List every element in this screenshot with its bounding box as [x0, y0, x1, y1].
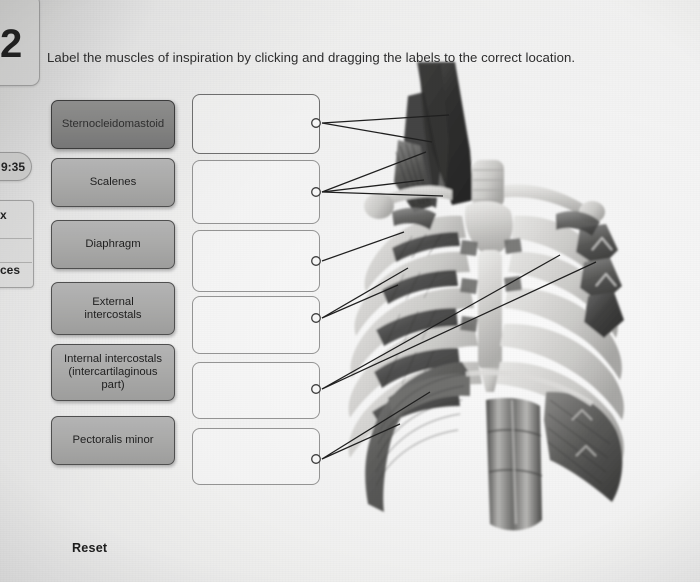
drop-slot-4[interactable]: [192, 362, 320, 419]
quiz-timer-label: 9:35: [1, 160, 25, 174]
side-menu-item-top[interactable]: x: [0, 208, 7, 222]
label-chip-text: Sternocleidomastoid: [62, 118, 164, 131]
exam-question-screenshot: 2 9:35 x ces Label the muscles of inspir…: [0, 0, 700, 582]
question-prompt: Label the muscles of inspiration by clic…: [47, 50, 575, 65]
tab-number-glyph: 2: [0, 22, 21, 67]
label-chip-text: External intercostals: [84, 296, 141, 322]
drop-slot-2[interactable]: [192, 230, 320, 292]
label-chip-4[interactable]: Internal intercostals (intercartilaginou…: [51, 344, 175, 401]
quiz-timer-pill: 9:35: [0, 152, 32, 181]
drop-slot-1[interactable]: [192, 160, 320, 224]
drop-slot-5[interactable]: [192, 428, 320, 485]
label-chip-2[interactable]: Diaphragm: [51, 220, 175, 269]
label-chip-1[interactable]: Scalenes: [51, 158, 175, 207]
label-chip-text: Internal intercostals (intercartilaginou…: [57, 353, 169, 392]
label-chip-text: Scalenes: [90, 176, 136, 189]
side-menu-item-bottom[interactable]: ces: [0, 263, 20, 277]
drop-slot-0[interactable]: [192, 94, 320, 154]
reset-button[interactable]: Reset: [72, 541, 107, 555]
label-chip-0[interactable]: Sternocleidomastoid: [51, 100, 175, 149]
drop-slot-3[interactable]: [192, 296, 320, 354]
label-chip-5[interactable]: Pectoralis minor: [51, 416, 175, 465]
side-menu-divider: [0, 238, 32, 239]
label-chip-text: Pectoralis minor: [73, 434, 154, 447]
label-chip-3[interactable]: External intercostals: [51, 282, 175, 335]
label-chip-text: Diaphragm: [85, 238, 140, 251]
